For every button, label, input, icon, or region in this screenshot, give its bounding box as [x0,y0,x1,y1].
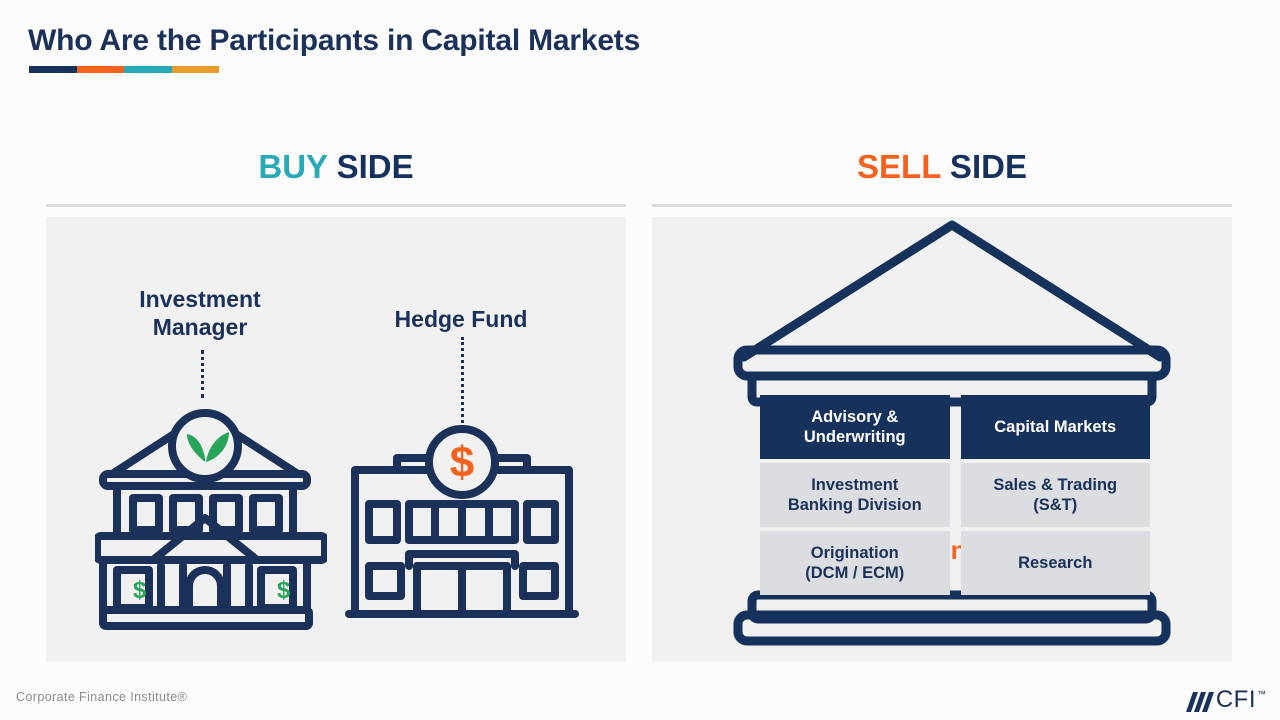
buy-side-heading: BUY SIDE [46,148,626,186]
buy-side-divider [46,204,626,207]
investment-manager-label: Investment Manager [104,285,296,341]
division-advisory-underwriting[interactable]: Advisory & Underwriting [760,395,950,459]
trademark-symbol: ™ [1257,690,1266,699]
page-title: Who Are the Participants in Capital Mark… [28,24,640,58]
buy-side-heading-rest: SIDE [327,148,413,185]
accent-segment-1 [29,66,77,73]
division-investment-banking-division[interactable]: Investment Banking Division [760,463,950,527]
cfi-wordmark: CFI [1216,688,1256,712]
division-research[interactable]: Research [961,531,1151,595]
buy-side-heading-highlight: BUY [258,148,327,185]
dollar-symbol-left: $ [133,577,147,604]
division-capital-markets[interactable]: Capital Markets [961,395,1151,459]
cfi-logo: CFI ™ [1180,688,1266,716]
investment-bank-diagram: Investment Bank Advisory & Underwriting … [652,217,1232,662]
office-building-icon: $ [341,420,583,632]
division-origination[interactable]: Origination (DCM / ECM) [760,531,950,595]
sell-side-heading: SELL SIDE [652,148,1232,186]
sell-side-heading-rest: SIDE [941,148,1027,185]
bank-divisions-grid: Advisory & Underwriting Capital Markets … [760,395,1150,595]
hedge-fund-connector-line [461,337,464,423]
dollar-coin-icon: $ [450,438,474,487]
accent-segment-2 [77,66,125,73]
hedge-fund-label: Hedge Fund [366,305,556,333]
sell-side-heading-highlight: SELL [857,148,941,185]
sell-side-divider [652,204,1232,207]
copyright-text: Corporate Finance Institute® [16,690,187,704]
accent-segment-4 [172,66,220,73]
cfi-bars-icon [1180,690,1214,716]
dollar-symbol-right: $ [277,577,291,604]
division-sales-trading[interactable]: Sales & Trading (S&T) [961,463,1151,527]
title-accent-bar [29,66,219,73]
accent-segment-3 [124,66,172,73]
classical-bank-building-icon: $ $ [95,388,327,633]
